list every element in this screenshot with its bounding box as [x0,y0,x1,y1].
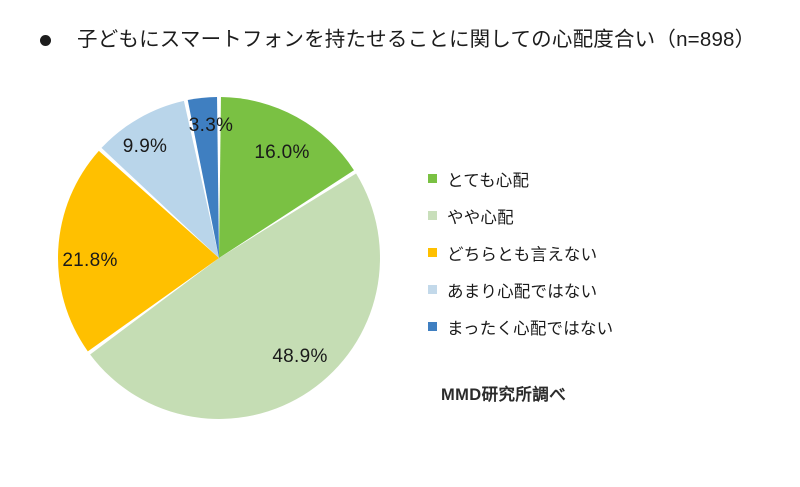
source-attribution: MMD研究所調べ [441,381,566,405]
chart-legend: とても心配やや心配どちらとも言えないあまり心配ではないまったく心配ではない [428,160,688,345]
pie-slice-label: 21.8% [62,250,117,272]
chart-header: 子どもにスマートフォンを持たせることに関しての心配度合い（n=898） [0,20,800,60]
pie-slice-label: 3.3% [189,115,234,137]
page-title: 子どもにスマートフォンを持たせることに関しての心配度合い（n=898） [77,28,755,52]
legend-item-label: どちらとも言えない [447,241,597,265]
legend-item[interactable]: どちらとも言えない [428,234,688,271]
legend-item[interactable]: あまり心配ではない [428,271,688,308]
legend-item-label: あまり心配ではない [447,278,597,302]
legend-swatch-icon [428,285,437,294]
legend-swatch-icon [428,322,437,331]
legend-item[interactable]: とても心配 [428,160,688,197]
legend-swatch-icon [428,211,437,220]
pie-slice-label: 48.9% [272,346,327,368]
legend-item-label: やや心配 [447,204,514,228]
legend-item[interactable]: まったく心配ではない [428,308,688,345]
legend-swatch-icon [428,174,437,183]
legend-item-label: まったく心配ではない [447,315,613,339]
legend-swatch-icon [428,248,437,257]
legend-item[interactable]: やや心配 [428,197,688,234]
pie-slice-label: 16.0% [254,142,309,164]
legend-item-label: とても心配 [447,167,529,191]
bullet-icon [40,35,51,46]
pie-slice-label: 9.9% [123,136,168,158]
